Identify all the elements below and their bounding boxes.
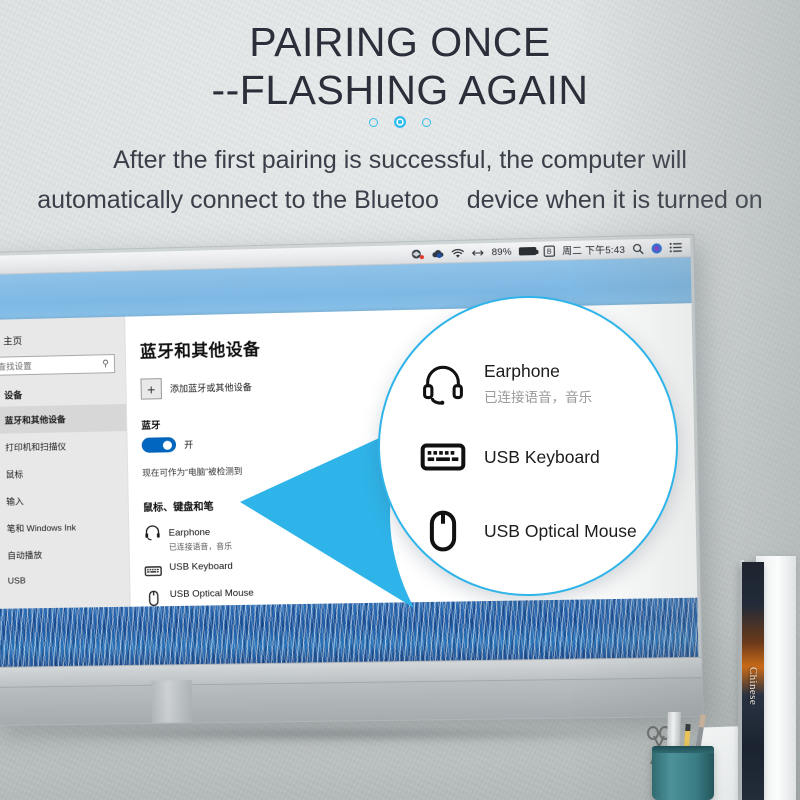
input-source-icon[interactable]: B [544,245,556,256]
list-icon[interactable] [670,242,683,253]
device-name: Earphone [169,527,211,539]
carousel-dot-1[interactable] [369,118,378,127]
search-icon[interactable] [632,243,644,254]
callout-device-name: USB Keyboard [484,446,600,469]
cloud-icon[interactable] [432,248,445,259]
page-title: PAIRING ONCE --FLASHING AGAIN [0,18,800,114]
battery-icon[interactable] [519,247,537,256]
pen-holder [640,690,726,800]
headset-icon [143,523,161,541]
book-title: Chinese [747,667,759,705]
callout-row-earphone[interactable]: Earphone 已连接语音，音乐 [420,360,676,406]
sidebar-home[interactable]: 主页 [0,331,125,348]
headset-icon [420,360,466,406]
sidebar-item-autoplay[interactable]: 自动播放 [0,539,129,568]
sidebar-search-placeholder: 查找设置 [0,359,32,372]
sidebar-item-mouse[interactable]: 鼠标 [0,458,127,488]
battery-percent: 89% [491,246,511,258]
headline-line-1: PAIRING ONCE [249,19,550,65]
callout-device-name: Earphone [484,360,592,383]
mouse-icon [145,589,163,607]
siri-icon[interactable] [651,242,663,253]
svg-text:B: B [547,248,552,255]
dropbox-icon[interactable] [412,248,426,259]
sidebar-item-bluetooth[interactable]: 蓝牙和其他设备 [0,404,126,434]
device-status: 已连接语音，音乐 [169,541,232,553]
monitor-shadow [8,726,648,742]
pen-cup [652,746,714,800]
carousel-dot-3[interactable] [422,118,431,127]
wifi-icon[interactable] [451,247,465,258]
subtitle-line-1: After the first pairing is successful, t… [0,140,800,180]
monitor-bezel [0,657,703,725]
sidebar-item-printers[interactable]: 打印机和扫描仪 [0,431,127,461]
add-device-label: 添加蓝牙或其他设备 [170,380,252,395]
callout-row-usb-keyboard[interactable]: USB Keyboard [420,434,676,480]
mouse-icon [420,508,466,554]
sidebar-group-title: 设备 [0,373,126,407]
carousel-dots[interactable] [0,116,800,128]
search-icon: ⚲ [102,358,109,369]
sidebar-item-pen-windows-ink[interactable]: 笔和 Windows Ink [0,512,128,542]
menubar-datetime[interactable]: 周二 下午5:43 [562,242,625,258]
headline-line-2: --FLASHING AGAIN [0,66,800,114]
sidebar-item-typing[interactable]: 输入 [0,485,128,515]
monitor-stand-neck [151,680,192,723]
carousel-dot-2-active[interactable] [394,116,406,128]
subtitle-line-2: automatically connect to the Bluetoo dev… [0,180,800,220]
callout-device-status: 已连接语音，音乐 [484,386,592,406]
sidebar-item-usb[interactable]: USB [0,567,129,593]
arrows-icon[interactable] [472,248,484,257]
keyboard-icon [144,562,162,580]
poster-root: PAIRING ONCE --FLASHING AGAIN After the … [0,0,800,800]
plus-icon: + [140,378,162,400]
bluetooth-toggle-state: 开 [184,438,193,451]
callout-row-usb-mouse[interactable]: USB Optical Mouse [420,508,676,554]
callout-device-list: Earphone 已连接语音，音乐 USB Keyboard USB Optic… [380,298,676,594]
callout-device-name: USB Optical Mouse [484,520,637,543]
bluetooth-toggle[interactable] [142,437,177,453]
book-stack: Chinese [738,548,796,800]
page-subtitle: After the first pairing is successful, t… [0,140,800,220]
magnifier-callout: Earphone 已连接语音，音乐 USB Keyboard USB Optic… [378,296,678,596]
book-dark: Chinese [742,562,764,800]
device-name: USB Keyboard [169,561,233,574]
keyboard-icon [420,434,466,480]
